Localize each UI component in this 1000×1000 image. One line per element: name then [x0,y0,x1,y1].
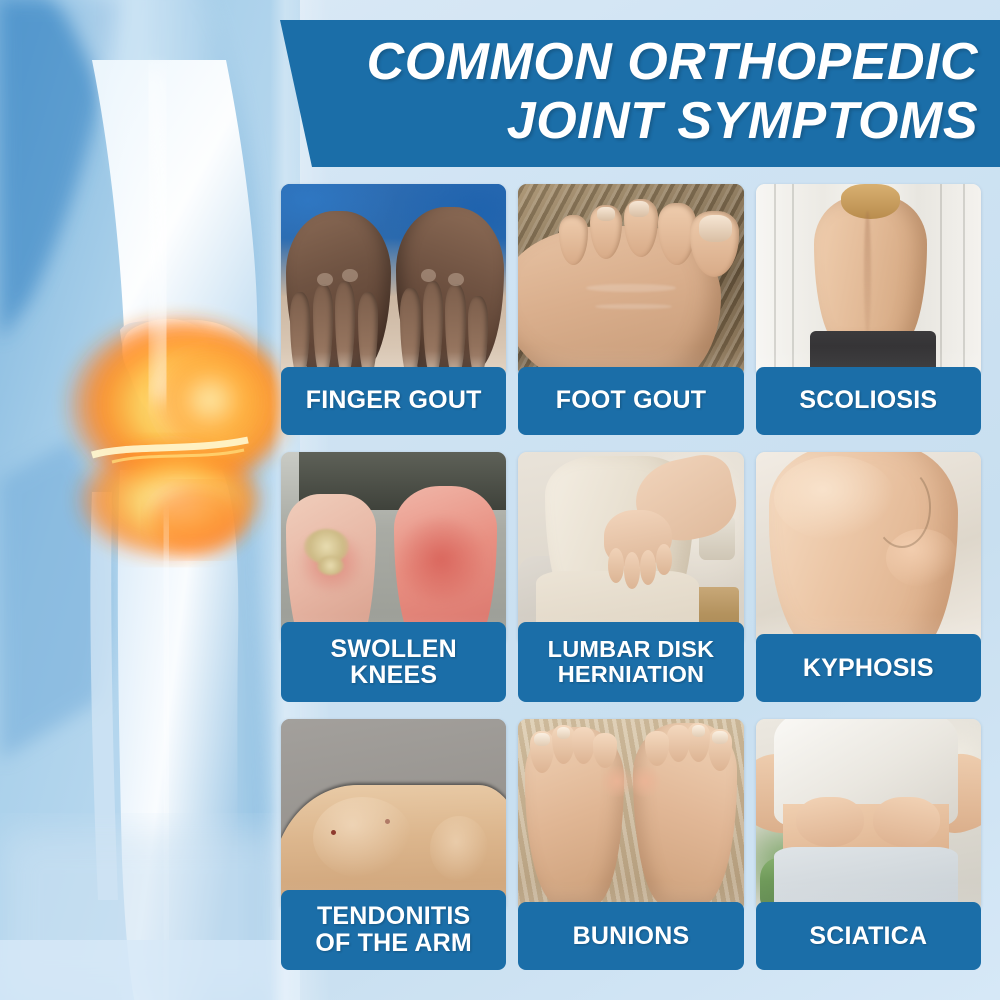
man-holding-low-back-photo [756,719,981,912]
rounded-upper-back-photo [756,452,981,645]
symptom-card-sciatica[interactable]: SCIATICA [756,719,981,974]
curved-spine-back-photo [756,184,981,377]
card-label-scoliosis[interactable]: SCOLIOSIS [756,367,981,435]
card-label-finger-gout[interactable]: FINGER GOUT [281,367,506,435]
card-label-foot-gout[interactable]: FOOT GOUT [518,367,743,435]
card-label-swollen-knees[interactable]: SWOLLENKNEES [281,622,506,702]
card-label-tendonitis-of-the-arm[interactable]: TENDONITISOF THE ARM [281,890,506,970]
card-label-text: SCOLIOSIS [799,387,937,414]
symptom-card-grid: FINGER GOUT [281,184,981,974]
card-label-text: FOOT GOUT [556,387,706,414]
symptom-card-lumbar-disk-herniation[interactable]: LUMBAR DISKHERNIATION [518,452,743,707]
card-label-lumbar-disk-herniation[interactable]: LUMBAR DISKHERNIATION [518,622,743,702]
symptom-card-swollen-knees[interactable]: SWOLLENKNEES [281,452,506,707]
page-title-line-1: COMMON ORTHOPEDIC [367,33,978,92]
feet-with-bunions-photo [518,719,743,912]
card-label-text: LUMBAR DISKHERNIATION [548,637,715,687]
woman-holding-lower-back-photo [518,452,743,645]
knee-joint-anatomy-illustration [0,0,300,1000]
orthopedic-symptoms-poster: COMMON ORTHOPEDIC JOINT SYMPTOMS [0,0,1000,1000]
card-label-text: SWOLLENKNEES [330,636,456,690]
card-label-text: BUNIONS [573,923,690,950]
arm-tendonitis-photo [281,719,506,912]
symptom-card-bunions[interactable]: BUNIONS [518,719,743,974]
hands-with-gout-photo [281,184,506,377]
symptom-card-scoliosis[interactable]: SCOLIOSIS [756,184,981,439]
card-label-kyphosis[interactable]: KYPHOSIS [756,634,981,702]
title-banner: COMMON ORTHOPEDIC JOINT SYMPTOMS [262,20,1000,167]
foot-with-gout-photo [518,184,743,377]
card-label-bunions[interactable]: BUNIONS [518,902,743,970]
symptom-card-tendonitis-of-the-arm[interactable]: TENDONITISOF THE ARM [281,719,506,974]
symptom-card-kyphosis[interactable]: KYPHOSIS [756,452,981,707]
symptom-card-finger-gout[interactable]: FINGER GOUT [281,184,506,439]
inflamed-swollen-knees-photo [281,452,506,645]
card-label-text: SCIATICA [809,923,927,950]
symptom-card-foot-gout[interactable]: FOOT GOUT [518,184,743,439]
card-label-text: TENDONITISOF THE ARM [315,903,472,957]
page-title-line-2: JOINT SYMPTOMS [507,92,978,151]
card-label-text: FINGER GOUT [306,387,482,414]
card-label-text: KYPHOSIS [803,655,934,682]
card-label-sciatica[interactable]: SCIATICA [756,902,981,970]
